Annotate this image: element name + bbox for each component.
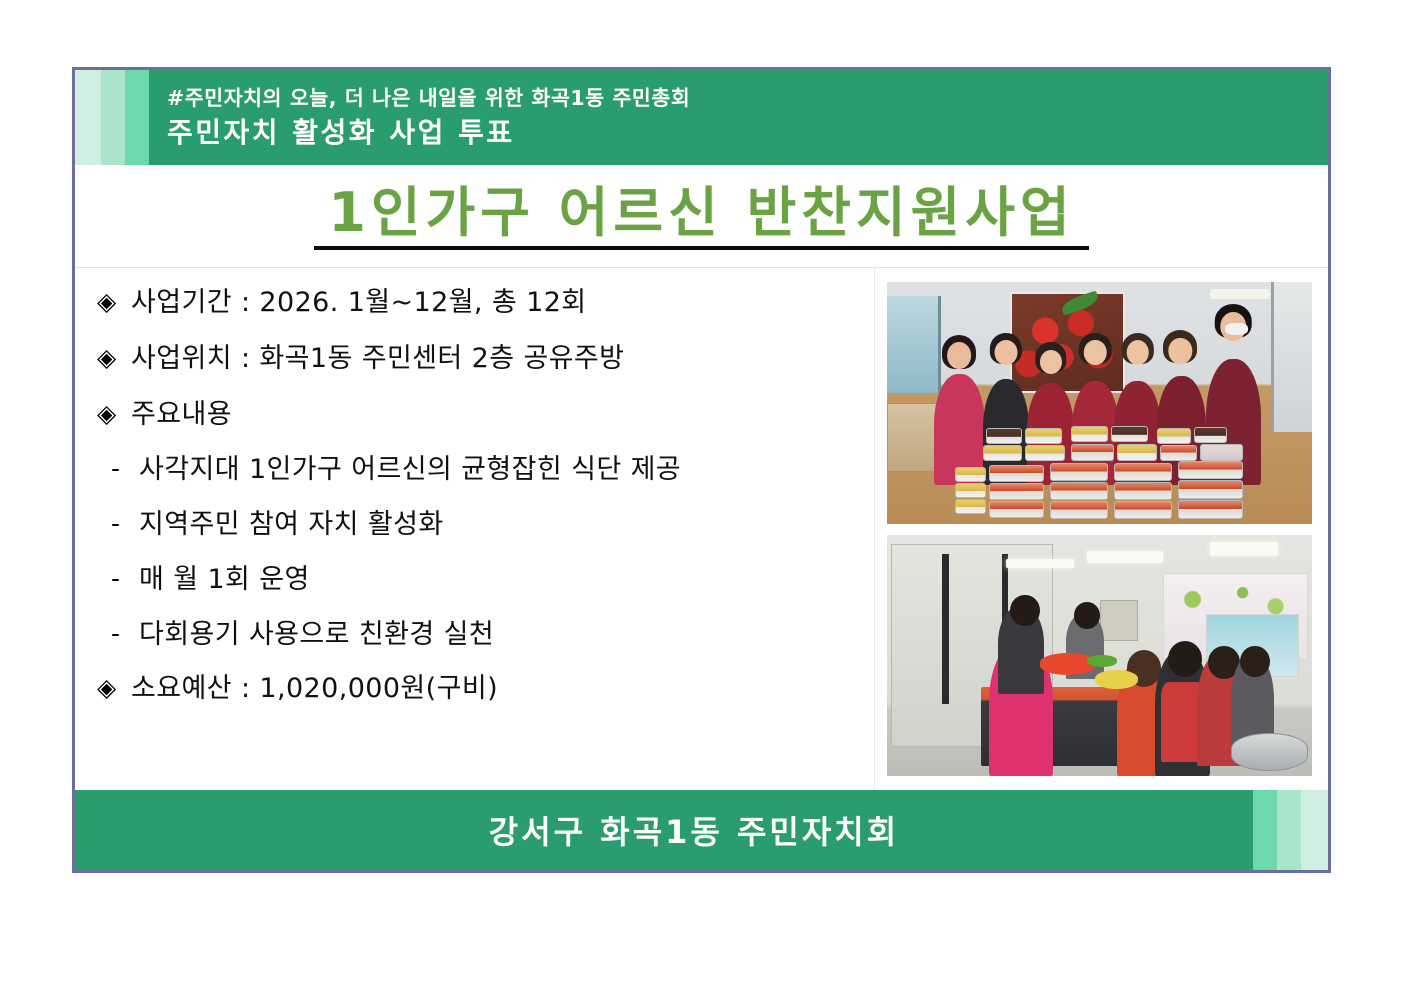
title-row: 1인가구 어르신 반찬지원사업 — [75, 165, 1328, 268]
sub-list-item-label: 매 월 1회 운영 — [139, 563, 874, 597]
sub-list-item: - 다회용기 사용으로 친환경 실천 — [97, 618, 874, 652]
footer-stripe-dark — [1253, 790, 1277, 870]
footer-organization: 강서구 화곡1동 주민자치회 — [75, 790, 1253, 870]
dash-bullet-icon: - — [111, 453, 139, 486]
sub-list-item: - 매 월 1회 운영 — [97, 563, 874, 597]
header-text-block: #주민자치의 오늘, 더 나은 내일을 위한 화곡1동 주민총회 주민자치 활성… — [149, 70, 1328, 165]
diamond-bullet-icon: ◈ — [97, 342, 131, 375]
dash-bullet-icon: - — [111, 563, 139, 596]
sub-list-item: - 사각지대 1인가구 어르신의 균형잡힌 식단 제공 — [97, 453, 874, 487]
list-item-label: 주요내용 — [131, 398, 874, 432]
sub-list-item-label: 사각지대 1인가구 어르신의 균형잡힌 식단 제공 — [139, 453, 874, 487]
poster-frame: #주민자치의 오늘, 더 나은 내일을 위한 화곡1동 주민총회 주민자치 활성… — [72, 67, 1331, 873]
sub-list-item-label: 지역주민 참여 자치 활성화 — [139, 508, 874, 542]
footer-stripe-light — [1301, 790, 1328, 870]
details-list: ◈ 사업기간 : 2026. 1월~12월, 총 12회 ◈ 사업위치 : 화곡… — [75, 268, 875, 790]
header-band: #주민자치의 오늘, 더 나은 내일을 위한 화곡1동 주민총회 주민자치 활성… — [75, 70, 1328, 165]
header-stripe-group — [75, 70, 149, 165]
header-stripe-light — [75, 70, 101, 165]
header-stripe-mid — [101, 70, 125, 165]
dash-bullet-icon: - — [111, 508, 139, 541]
photo-column — [875, 268, 1328, 790]
footer-stripe-group — [1253, 790, 1328, 870]
body-area: ◈ 사업기간 : 2026. 1월~12월, 총 12회 ◈ 사업위치 : 화곡… — [75, 268, 1328, 790]
list-item-label: 소요예산 : 1,020,000원(구비) — [131, 672, 874, 706]
page-title: 1인가구 어르신 반찬지원사업 — [314, 186, 1088, 250]
footer-stripe-mid — [1277, 790, 1301, 870]
header-stripe-dark — [125, 70, 149, 165]
list-item: ◈ 소요예산 : 1,020,000원(구비) — [97, 672, 874, 706]
list-item: ◈ 사업위치 : 화곡1동 주민센터 2층 공유주방 — [97, 342, 874, 376]
list-item: ◈ 주요내용 — [97, 398, 874, 432]
sub-list-item: - 지역주민 참여 자치 활성화 — [97, 508, 874, 542]
header-title: 주민자치 활성화 사업 투표 — [167, 116, 1328, 150]
footer-band: 강서구 화곡1동 주민자치회 — [75, 790, 1328, 870]
list-item: ◈ 사업기간 : 2026. 1월~12월, 총 12회 — [97, 286, 874, 320]
list-item-label: 사업기간 : 2026. 1월~12월, 총 12회 — [131, 286, 874, 320]
diamond-bullet-icon: ◈ — [97, 286, 131, 319]
dash-bullet-icon: - — [111, 618, 139, 651]
shared-kitchen-cooking-photo — [887, 535, 1312, 777]
volunteers-with-meal-containers-photo — [887, 282, 1312, 524]
header-hashtag: #주민자치의 오늘, 더 나은 내일을 위한 화곡1동 주민총회 — [167, 86, 1328, 112]
diamond-bullet-icon: ◈ — [97, 672, 131, 705]
sub-list-item-label: 다회용기 사용으로 친환경 실천 — [139, 618, 874, 652]
diamond-bullet-icon: ◈ — [97, 398, 131, 431]
list-item-label: 사업위치 : 화곡1동 주민센터 2층 공유주방 — [131, 342, 874, 376]
